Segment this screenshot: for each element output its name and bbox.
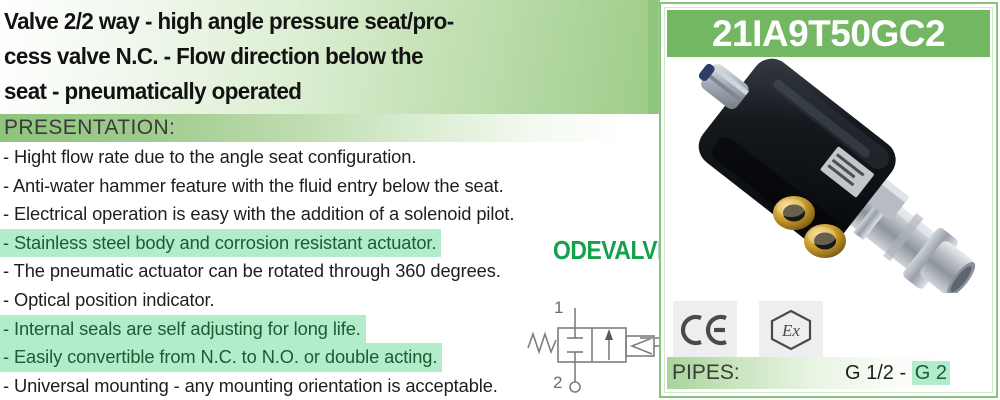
pipes-label: PIPES:	[667, 360, 740, 386]
ce-mark-badge	[673, 301, 737, 359]
feature-item: - Stainless steel body and corrosion res…	[0, 229, 441, 258]
feature-item: - Hight flow rate due to the angle seat …	[0, 143, 660, 172]
page-title: Valve 2/2 way - high angle pressure seat…	[4, 4, 620, 109]
presentation-section-bar: PRESENTATION:	[0, 114, 660, 142]
feature-item: - Electrical operation is easy with the …	[0, 200, 660, 229]
left-content-column: Valve 2/2 way - high angle pressure seat…	[0, 0, 660, 400]
atex-mark-badge: Εx	[759, 301, 823, 359]
feature-item: - Anti-water hammer feature with the flu…	[0, 172, 660, 201]
pipes-value-plain: G 1/2 -	[845, 362, 912, 384]
schematic-svg: 1 2	[520, 296, 660, 400]
pipes-row: PIPES: G 1/2 - G 2	[667, 357, 990, 389]
title-block: Valve 2/2 way - high angle pressure seat…	[0, 0, 660, 114]
feature-item: - Internal seals are self adjusting for …	[0, 315, 366, 344]
product-panel: 21IA9T50GC2	[659, 2, 998, 398]
certification-badges: Εx	[673, 301, 823, 359]
valve-product-photo	[667, 58, 990, 293]
product-panel-inner: 21IA9T50GC2	[664, 7, 993, 393]
pipes-value: G 1/2 - G 2	[845, 360, 950, 386]
atex-ex-icon: Εx	[767, 308, 815, 352]
ce-mark-icon	[681, 313, 729, 347]
port-1-label: 1	[554, 298, 563, 317]
green-accent-tab	[648, 0, 658, 114]
pipes-value-highlighted: G 2	[912, 361, 950, 385]
product-code-banner: 21IA9T50GC2	[667, 10, 990, 57]
svg-text:Εx: Εx	[781, 321, 800, 340]
port-2-label: 2	[553, 373, 562, 392]
product-photo-area	[667, 58, 990, 293]
product-datasheet: Valve 2/2 way - high angle pressure seat…	[0, 0, 1000, 400]
product-code: 21IA9T50GC2	[712, 14, 945, 54]
presentation-label: PRESENTATION:	[4, 115, 175, 141]
feature-item: - Easily convertible from N.C. to N.O. o…	[0, 343, 442, 372]
valve-schematic-symbol: 1 2	[520, 296, 660, 400]
